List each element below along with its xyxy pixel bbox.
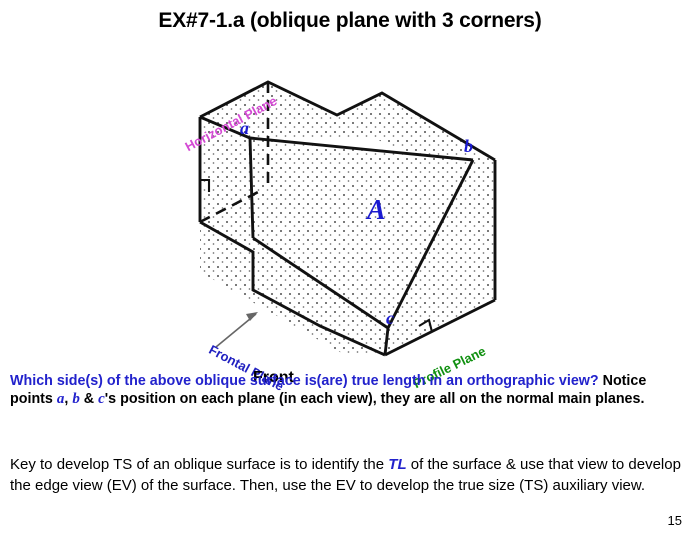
face-label-a: A: [367, 195, 386, 227]
key-highlight-tl: TL: [388, 456, 406, 473]
isometric-figure-svg: [0, 40, 700, 370]
isometric-drawing: Horizontal Plane Frontal Plane Profile P…: [0, 40, 700, 370]
question-blue-text: Which side(s) of the above oblique surfa…: [10, 373, 599, 389]
key-paragraph: Key to develop TS of an oblique surface …: [10, 455, 692, 496]
key-text-1: Key to develop TS of an oblique surface …: [10, 456, 388, 473]
oblique-face: [250, 138, 495, 355]
inline-sep-2: &: [80, 391, 98, 407]
vertex-label-b: b: [464, 136, 473, 157]
page-title: EX#7-1.a (oblique plane with 3 corners): [0, 9, 700, 33]
question-paragraph: Which side(s) of the above oblique surfa…: [10, 373, 692, 408]
vertex-label-c: c: [386, 308, 394, 329]
front-direction-arrow: [216, 312, 258, 347]
slide-canvas: EX#7-1.a (oblique plane with 3 corners): [0, 0, 700, 536]
inline-point-b: b: [72, 391, 80, 407]
inline-point-c: c: [98, 391, 105, 407]
vertex-label-a: a: [240, 118, 249, 139]
question-black-text-2: 's position on each plane (in each view)…: [105, 391, 645, 407]
page-number: 15: [668, 513, 682, 528]
